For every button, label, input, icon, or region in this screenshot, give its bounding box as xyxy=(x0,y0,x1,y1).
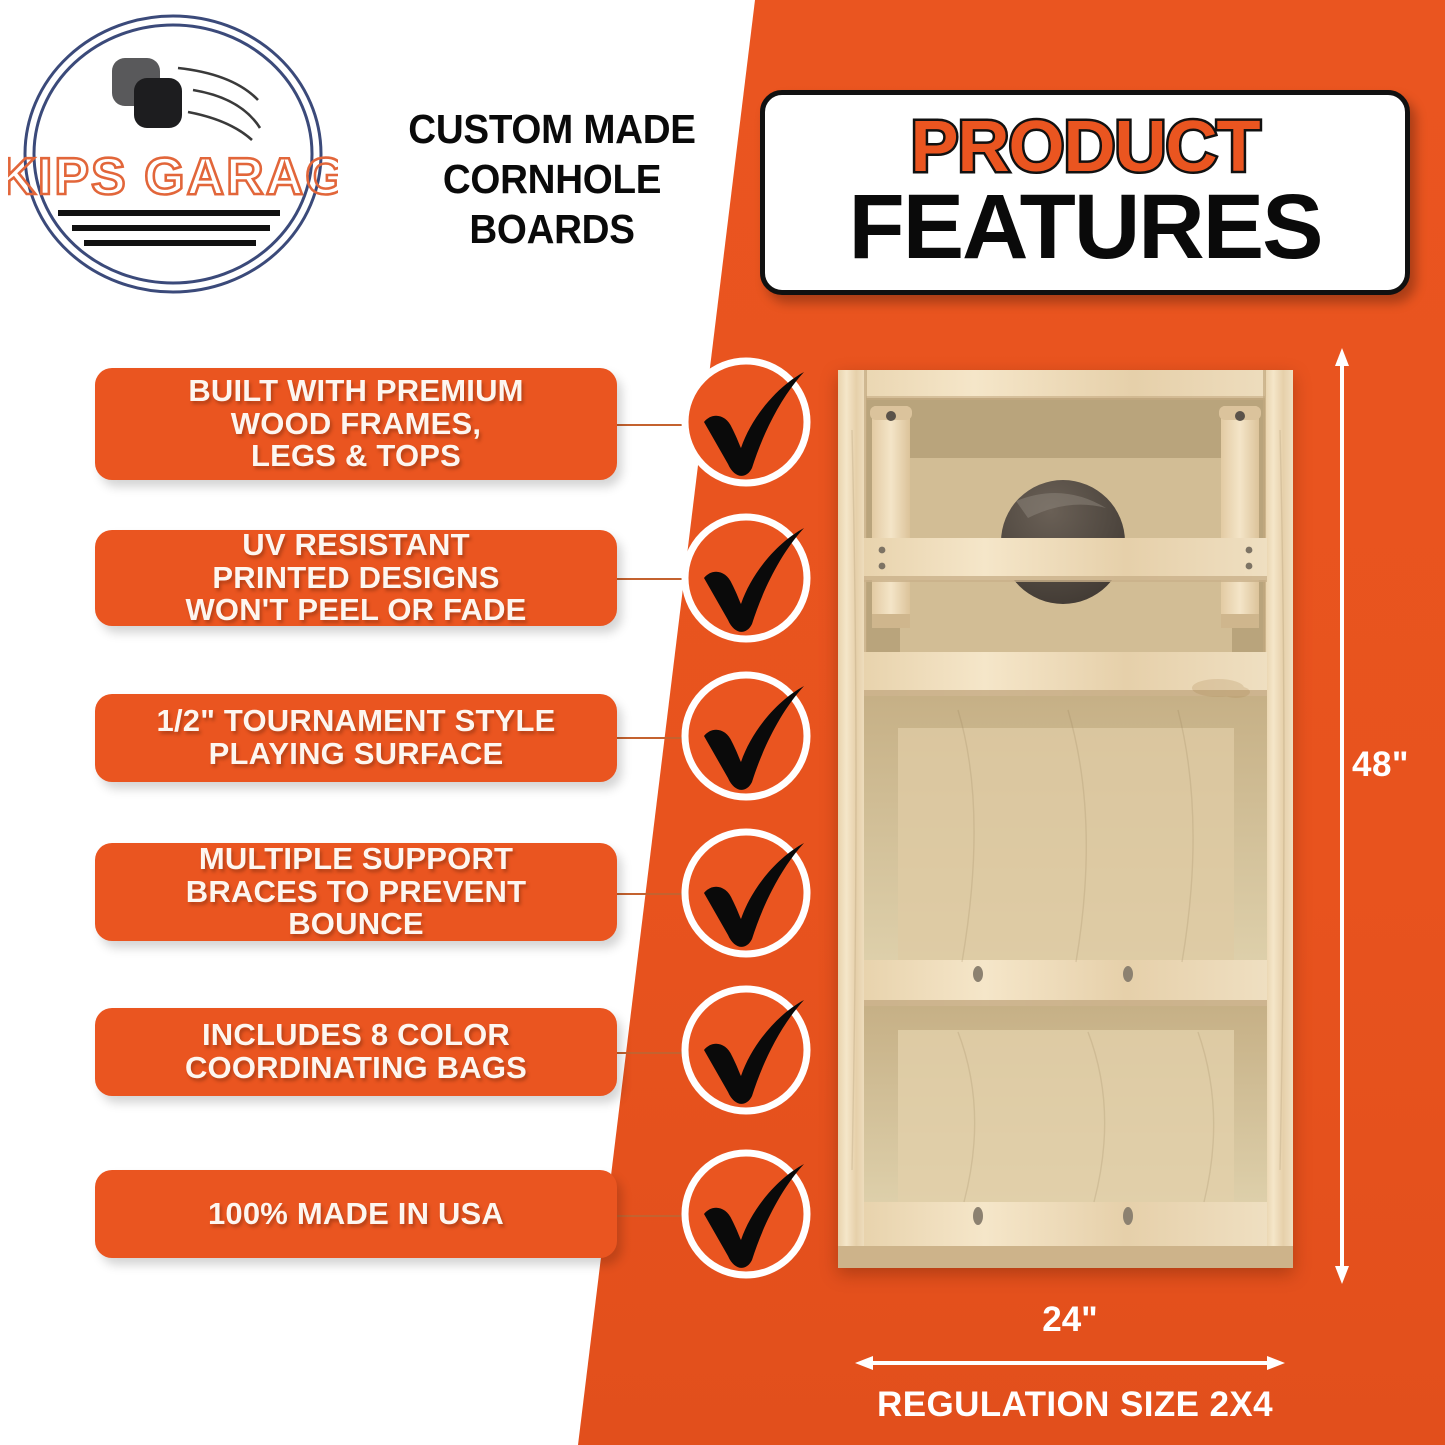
feature-text-line: BRACES TO PREVENT xyxy=(186,876,526,909)
feature-pill-support-braces: MULTIPLE SUPPORT BRACES TO PREVENT BOUNC… xyxy=(95,843,617,941)
checkmark-badge-6 xyxy=(682,1150,810,1278)
folding-leg-left xyxy=(870,406,912,628)
regulation-size-label: REGULATION SIZE 2X4 xyxy=(825,1385,1325,1425)
support-brace-upper xyxy=(864,538,1267,582)
feature-pill-made-in-usa: 100% MADE IN USA xyxy=(95,1170,617,1258)
feature-text-line: WON'T PEEL OR FADE xyxy=(185,594,526,627)
width-dimension-arrow xyxy=(855,1355,1285,1371)
feature-text-line: BOUNCE xyxy=(186,908,526,941)
feature-text-line: COORDINATING BAGS xyxy=(185,1052,527,1085)
feature-text-line: INCLUDES 8 COLOR xyxy=(185,1019,527,1052)
checkmark-badge-4 xyxy=(682,829,810,957)
logo-wordmark: SKIPS GARAGE xyxy=(8,148,338,206)
cornhole-board-photo xyxy=(838,370,1293,1268)
feature-pill-bags-included: INCLUDES 8 COLOR COORDINATING BAGS xyxy=(95,1008,617,1096)
feature-text-line: PLAYING SURFACE xyxy=(157,738,556,771)
feature-text-line: UV RESISTANT xyxy=(185,529,526,562)
feature-text-line: 1/2" TOURNAMENT STYLE xyxy=(157,705,556,738)
feature-text-line: 100% MADE IN USA xyxy=(208,1198,504,1231)
feature-pill-uv-resistant: UV RESISTANT PRINTED DESIGNS WON'T PEEL … xyxy=(95,530,617,626)
page-title: CUSTOM MADE CORNHOLE BOARDS xyxy=(364,104,740,254)
bottom-rail xyxy=(838,1202,1293,1268)
checkmark-badge-1 xyxy=(682,358,810,486)
feature-text-line: WOOD FRAMES, xyxy=(188,408,523,441)
feature-text-line: PRINTED DESIGNS xyxy=(185,562,526,595)
infographic-canvas: SKIPS GARAGE CUSTOM MADE CORNHOLE BOARDS… xyxy=(0,0,1445,1445)
folding-leg-right xyxy=(1219,406,1261,628)
badge-line-product: PRODUCT xyxy=(911,114,1260,182)
skips-garage-logo: SKIPS GARAGE xyxy=(8,12,338,297)
height-dimension-label: 48" xyxy=(1352,745,1409,785)
height-dimension-arrow xyxy=(1335,348,1349,1284)
feature-text-line: LEGS & TOPS xyxy=(188,440,523,473)
title-line-1: CUSTOM MADE xyxy=(364,104,740,154)
width-dimension-label: 24" xyxy=(855,1300,1285,1340)
checkmark-badge-5 xyxy=(682,986,810,1114)
title-line-2: CORNHOLE xyxy=(364,154,740,204)
product-features-badge: PRODUCT FEATURES xyxy=(760,90,1410,295)
feature-text-line: MULTIPLE SUPPORT xyxy=(186,843,526,876)
support-brace-lower xyxy=(864,960,1267,1007)
badge-line-features: FEATURES xyxy=(849,184,1322,270)
feature-text-line: BUILT WITH PREMIUM xyxy=(188,375,523,408)
checkmark-badge-3 xyxy=(682,672,810,800)
feature-pill-premium-wood: BUILT WITH PREMIUM WOOD FRAMES, LEGS & T… xyxy=(95,368,617,480)
checkmark-badge-2 xyxy=(682,514,810,642)
feature-pill-playing-surface: 1/2" TOURNAMENT STYLE PLAYING SURFACE xyxy=(95,694,617,782)
title-line-3: BOARDS xyxy=(364,204,740,254)
